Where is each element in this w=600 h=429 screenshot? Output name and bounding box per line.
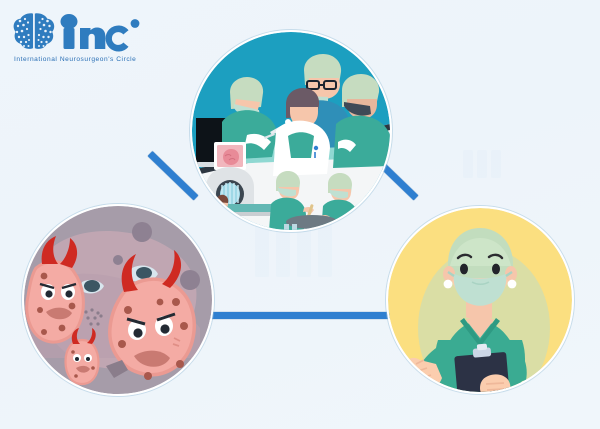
background-watermark [491,150,501,178]
logo[interactable]: International Neurosurgeon's Circle [12,8,152,70]
medical-staff-artwork [388,208,572,392]
logo-wordmark [61,14,140,52]
logo-tagline: International Neurosurgeon's Circle [14,56,154,63]
surgery-scene-artwork [192,32,390,230]
tumor-cells-artwork [24,206,212,394]
brain-icon [12,10,144,52]
surgery-scene-circle[interactable] [190,30,392,232]
background-watermark [463,150,473,178]
infographic-canvas: International Neurosurgeon's Circle [0,0,600,429]
tumor-cells-circle[interactable] [22,204,214,396]
connector-cells-to-surgery [148,151,199,200]
background-watermark [477,150,487,178]
connector-cells-to-staff [197,312,402,319]
medical-staff-circle[interactable] [386,206,574,394]
